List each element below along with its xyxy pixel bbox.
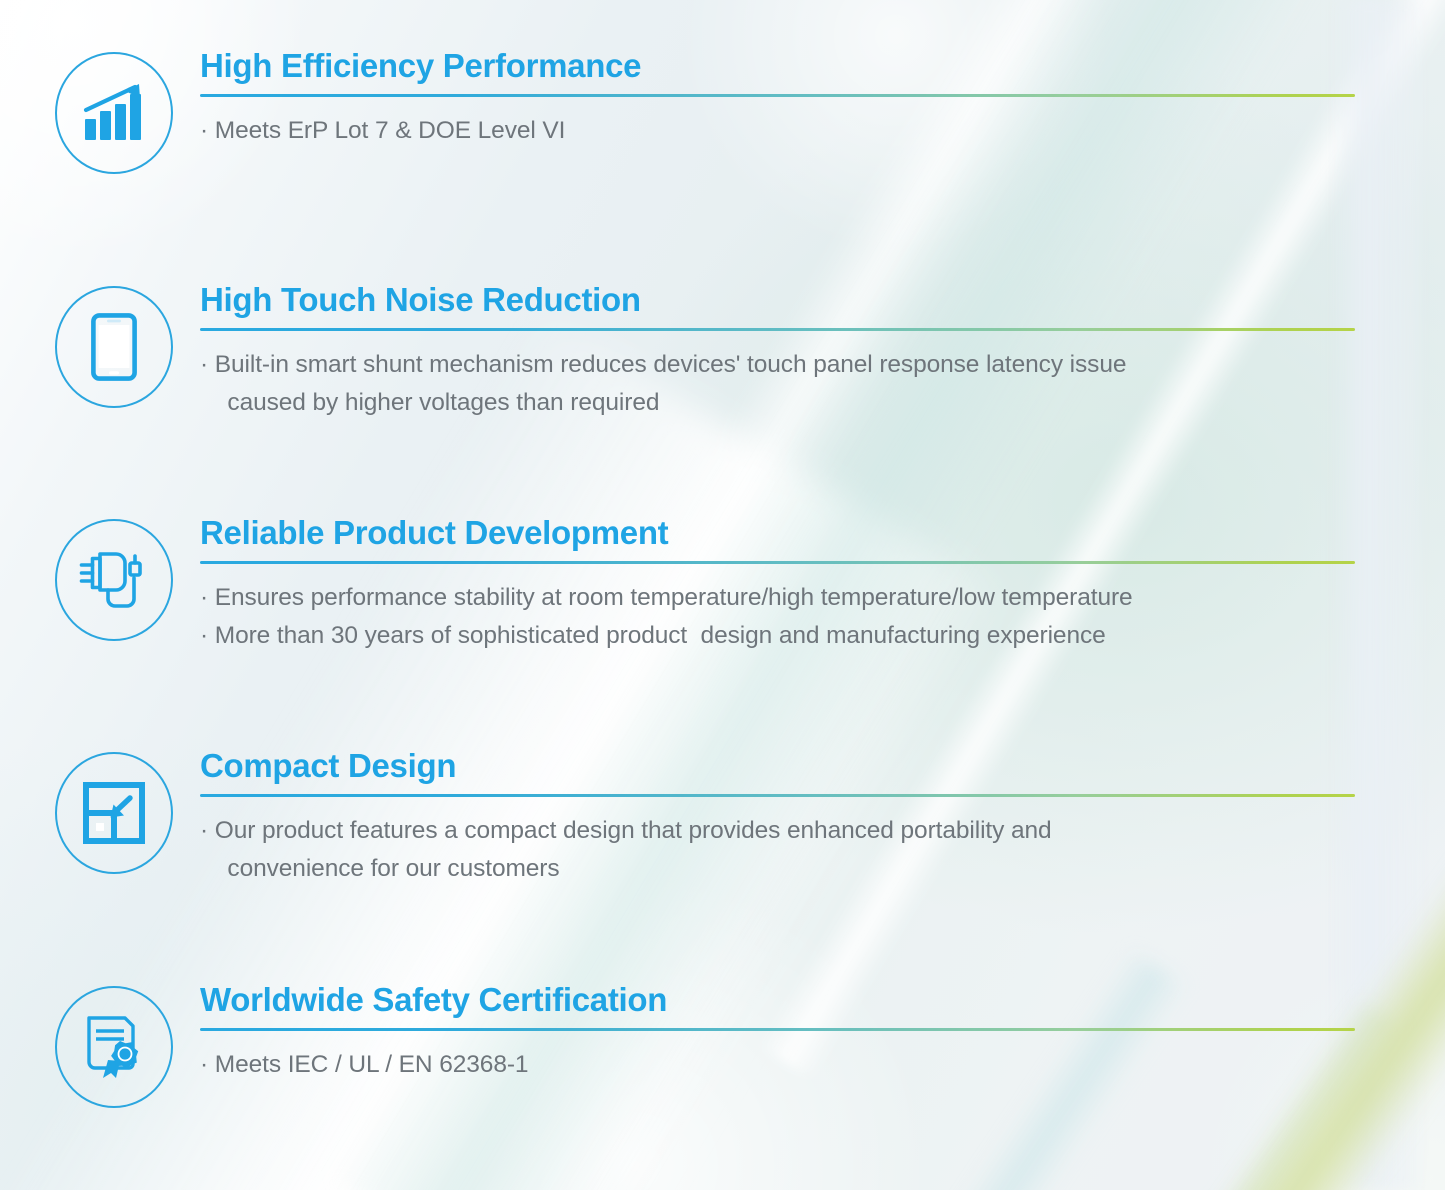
feature-row-compact-design: Compact Design · Our product features a … xyxy=(55,748,1368,889)
feature-text-block: High Touch Noise Reduction · Built-in sm… xyxy=(173,282,1368,423)
feature-row-reliable-product-development: Reliable Product Development · Ensures p… xyxy=(55,515,1368,656)
bar-chart-growth-icon xyxy=(81,81,147,145)
feature-divider-rule xyxy=(200,328,1355,331)
feature-bullet-list: · Our product features a compact design … xyxy=(200,812,1368,889)
feature-bullet-line: · Our product features a compact design … xyxy=(200,812,1368,889)
certificate-seal-icon xyxy=(83,1014,145,1080)
feature-bullet-line: · Meets IEC / UL / EN 62368-1 xyxy=(200,1046,1368,1084)
feature-text-block: High Efficiency Performance · Meets ErP … xyxy=(173,48,1368,150)
feature-bullet-list: · Meets IEC / UL / EN 62368-1 xyxy=(200,1046,1368,1084)
feature-title: High Efficiency Performance xyxy=(200,48,1368,85)
icon-circle-frame xyxy=(55,986,173,1108)
feature-text-block: Worldwide Safety Certification · Meets I… xyxy=(173,982,1368,1084)
feature-title: Reliable Product Development xyxy=(200,515,1368,552)
feature-icon-container xyxy=(55,748,173,874)
icon-circle-frame xyxy=(55,286,173,408)
feature-row-worldwide-safety-certification: Worldwide Safety Certification · Meets I… xyxy=(55,982,1368,1108)
icon-circle-frame xyxy=(55,752,173,874)
feature-highlights-page: High Efficiency Performance · Meets ErP … xyxy=(0,0,1445,1190)
feature-text-block: Compact Design · Our product features a … xyxy=(173,748,1368,889)
feature-divider-rule xyxy=(200,1028,1355,1031)
feature-row-high-efficiency-performance: High Efficiency Performance · Meets ErP … xyxy=(55,48,1368,174)
feature-bullet-line: · More than 30 years of sophisticated pr… xyxy=(200,617,1368,655)
icon-circle-frame xyxy=(55,52,173,174)
feature-bullet-line: · Built-in smart shunt mechanism reduces… xyxy=(200,346,1368,423)
compact-resize-icon xyxy=(83,782,145,844)
feature-divider-rule xyxy=(200,94,1355,97)
feature-icon-container xyxy=(55,48,173,174)
feature-icon-container xyxy=(55,282,173,408)
feature-row-high-touch-noise-reduction: High Touch Noise Reduction · Built-in sm… xyxy=(55,282,1368,423)
smartphone-icon xyxy=(91,313,137,381)
icon-circle-frame xyxy=(55,519,173,641)
feature-icon-container xyxy=(55,515,173,641)
feature-divider-rule xyxy=(200,561,1355,564)
feature-text-block: Reliable Product Development · Ensures p… xyxy=(173,515,1368,656)
power-adapter-icon xyxy=(78,547,150,613)
feature-bullet-list: · Ensures performance stability at room … xyxy=(200,579,1368,656)
feature-icon-container xyxy=(55,982,173,1108)
feature-bullet-list: · Built-in smart shunt mechanism reduces… xyxy=(200,346,1368,423)
feature-bullet-line: · Meets ErP Lot 7 & DOE Level VI xyxy=(200,112,1368,150)
feature-bullet-line: · Ensures performance stability at room … xyxy=(200,579,1368,617)
feature-title: Compact Design xyxy=(200,748,1368,785)
feature-title: High Touch Noise Reduction xyxy=(200,282,1368,319)
feature-bullet-list: · Meets ErP Lot 7 & DOE Level VI xyxy=(200,112,1368,150)
feature-divider-rule xyxy=(200,794,1355,797)
feature-title: Worldwide Safety Certification xyxy=(200,982,1368,1019)
